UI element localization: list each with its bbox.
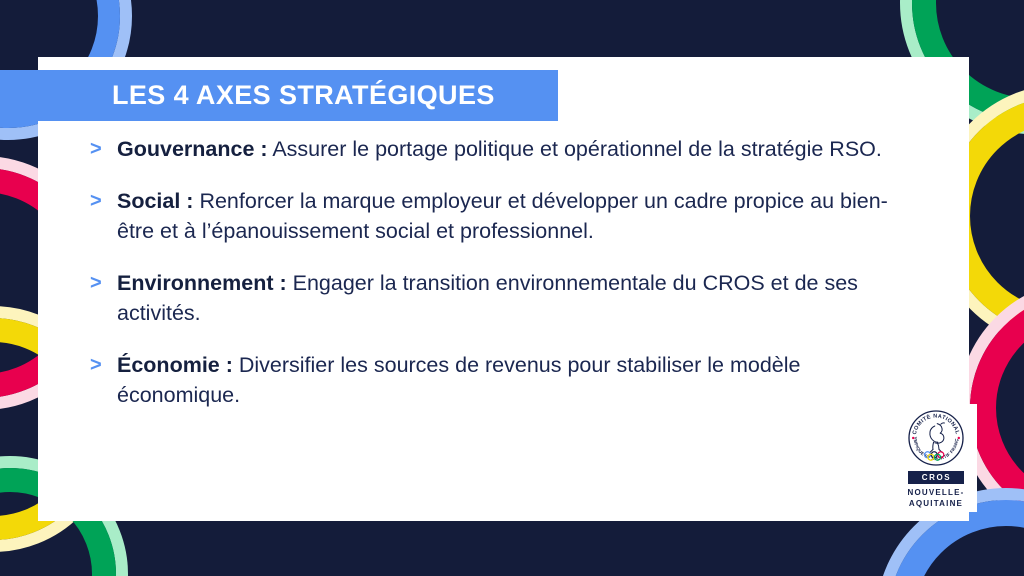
cros-tag: CROS bbox=[908, 471, 965, 484]
list-item: > Environnement : Engager la transition … bbox=[90, 268, 910, 328]
chevron-right-icon: > bbox=[90, 268, 102, 298]
list-item: > Social : Renforcer la marque employeur… bbox=[90, 186, 910, 246]
list-item-text: Assurer le portage politique et opératio… bbox=[268, 137, 882, 161]
list-item-label: Social : bbox=[117, 189, 193, 213]
chevron-right-icon: > bbox=[90, 350, 102, 380]
title-banner: LES 4 AXES STRATÉGIQUES bbox=[0, 70, 558, 121]
list-item-text: Renforcer la marque employeur et dévelop… bbox=[117, 189, 888, 243]
slide: LES 4 AXES STRATÉGIQUES > Gouvernance : … bbox=[0, 0, 1024, 576]
list-item-label: Environnement : bbox=[117, 271, 287, 295]
chevron-right-icon: > bbox=[90, 134, 102, 164]
list-item-label: Économie : bbox=[117, 353, 233, 377]
list-item: > Économie : Diversifier les sources de … bbox=[90, 350, 910, 410]
logo-region-line-1: NOUVELLE- bbox=[907, 487, 964, 498]
list-item-label: Gouvernance : bbox=[117, 137, 268, 161]
logo-region-line-2: AQUITAINE bbox=[909, 498, 963, 509]
svg-text:COMITÉ NATIONAL: COMITÉ NATIONAL bbox=[912, 412, 960, 435]
ring-red-right bbox=[970, 292, 1024, 524]
page-title: LES 4 AXES STRATÉGIQUES bbox=[112, 80, 495, 111]
strategic-axes-list: > Gouvernance : Assurer le portage polit… bbox=[90, 134, 910, 410]
cros-nouvelle-aquitaine-logo: COMITÉ NATIONAL OLYMPIQUE ET SPORTIF FRA… bbox=[895, 404, 977, 512]
list-item: > Gouvernance : Assurer le portage polit… bbox=[90, 134, 910, 164]
chevron-right-icon: > bbox=[90, 186, 102, 216]
cnosf-emblem-icon: COMITÉ NATIONAL OLYMPIQUE ET SPORTIF FRA… bbox=[906, 408, 966, 468]
